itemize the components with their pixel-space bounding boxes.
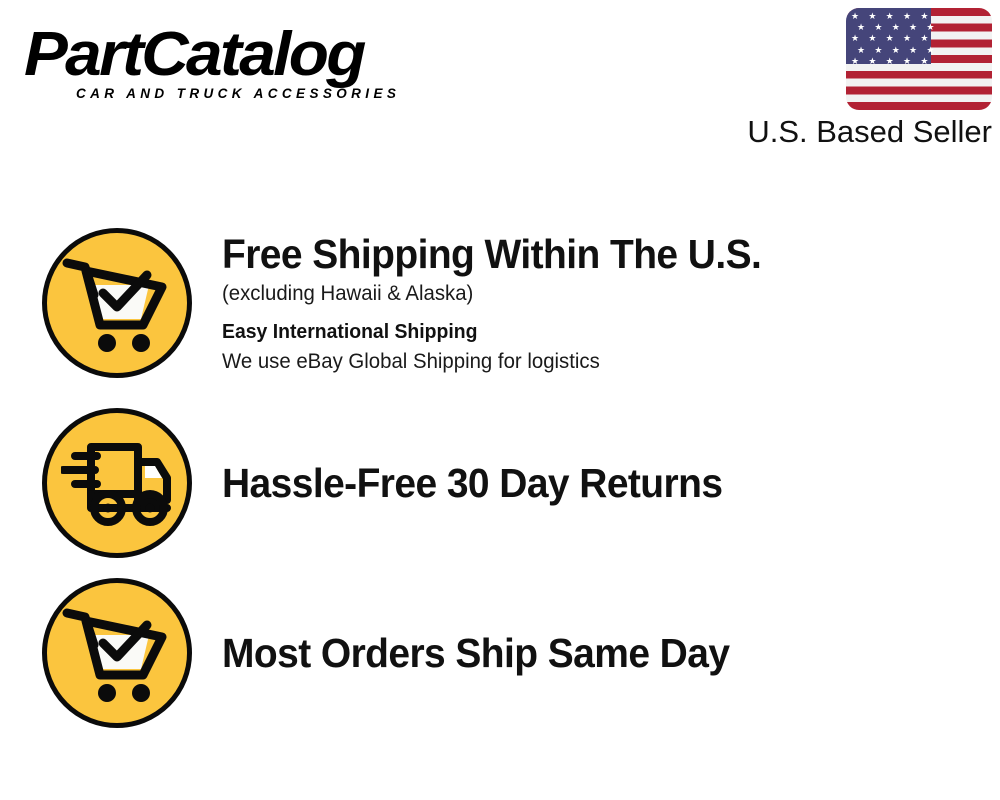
delivery-truck-icon [42, 408, 192, 558]
feature-subtitle-bold: Easy International Shipping [222, 317, 977, 347]
shopping-cart-check-icon [42, 578, 192, 728]
page-header: PartCatalog CAR AND TRUCK ACCESSORIES ★ … [0, 0, 1000, 170]
brand-wordmark: PartCatalog [24, 22, 522, 88]
feature-text-block: Free Shipping Within The U.S. (excluding… [222, 229, 1000, 377]
shopping-cart-check-icon [42, 228, 192, 378]
us-based-seller-label: U.S. Based Seller [722, 114, 992, 150]
us-based-seller-badge: ★ ★ ★ ★ ★ ★ ★ ★ ★ ★ ★ ★ ★ ★ ★ ★ ★ ★ ★ ★ … [722, 8, 992, 150]
flag-stars: ★ ★ ★ ★ ★ ★ ★ ★ ★ ★ ★ ★ ★ ★ ★ ★ ★ ★ ★ ★ … [846, 8, 931, 64]
feature-text-block: Most Orders Ship Same Day [222, 628, 1000, 678]
feature-subtitle-note: We use eBay Global Shipping for logistic… [222, 347, 977, 377]
feature-subtitle: (excluding Hawaii & Alaska) [222, 279, 977, 309]
feature-title: Most Orders Ship Same Day [222, 628, 961, 678]
us-flag-icon: ★ ★ ★ ★ ★ ★ ★ ★ ★ ★ ★ ★ ★ ★ ★ ★ ★ ★ ★ ★ … [846, 8, 992, 110]
feature-row: Free Shipping Within The U.S. (excluding… [0, 228, 1000, 378]
brand-logo[interactable]: PartCatalog CAR AND TRUCK ACCESSORIES [24, 22, 494, 118]
feature-text-block: Hassle-Free 30 Day Returns [222, 458, 1000, 508]
feature-title: Hassle-Free 30 Day Returns [222, 458, 961, 508]
feature-row: Most Orders Ship Same Day [0, 578, 1000, 728]
feature-title: Free Shipping Within The U.S. [222, 229, 961, 279]
feature-row: Hassle-Free 30 Day Returns [0, 408, 1000, 558]
